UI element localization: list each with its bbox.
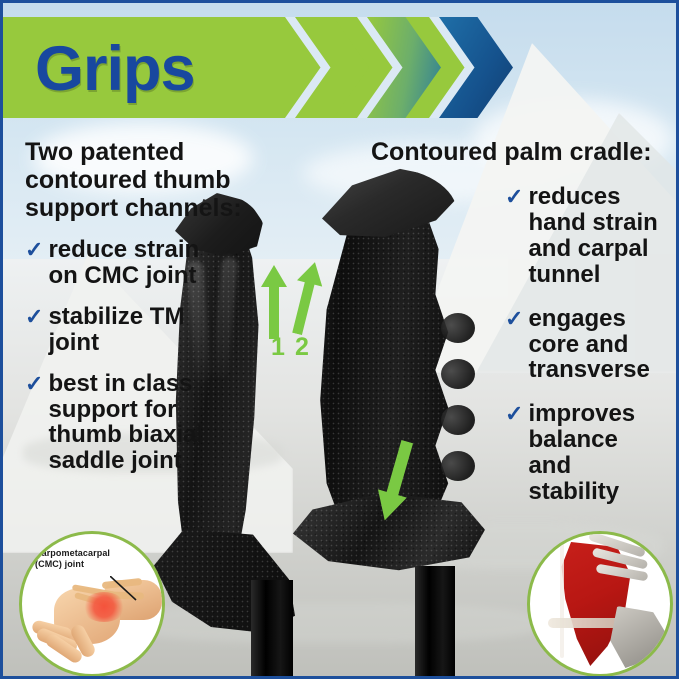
left-text-column: Two patented contoured thumb support cha… bbox=[25, 138, 257, 474]
left-bullet-2: stabilize TM joint bbox=[48, 304, 184, 356]
cmc-joint-inset: Carpometacarpal (CMC) joint bbox=[19, 531, 165, 677]
right-bullet-3: improves balance and stability bbox=[528, 401, 661, 505]
trekking-pole-right bbox=[415, 566, 455, 676]
check-icon: ✓ bbox=[505, 402, 523, 426]
hand-anatomy-illustration bbox=[26, 574, 160, 670]
check-icon: ✓ bbox=[25, 305, 43, 329]
list-item: ✓ best in class support for thumb biaxia… bbox=[25, 371, 257, 475]
list-item: ✓ stabilize TM joint bbox=[25, 304, 257, 356]
right-bullet-1: reduces hand strain and carpal tunnel bbox=[528, 184, 657, 288]
trekking-pole-left bbox=[251, 580, 293, 676]
left-column-heading: Two patented contoured thumb support cha… bbox=[25, 138, 257, 222]
cmc-leader-line bbox=[110, 576, 138, 602]
left-bullet-3: best in class support for thumb biaxial … bbox=[48, 371, 203, 475]
right-column-heading: Contoured palm cradle: bbox=[371, 138, 661, 166]
right-text-column: Contoured palm cradle: ✓ reduces hand st… bbox=[371, 138, 661, 505]
list-item: ✓ reduces hand strain and carpal tunnel bbox=[505, 184, 661, 288]
cmc-joint-label: Carpometacarpal (CMC) joint bbox=[35, 548, 147, 571]
right-bullet-list: ✓ reduces hand strain and carpal tunnel … bbox=[505, 184, 661, 505]
left-bullet-list: ✓ reduce strain on CMC joint ✓ stabilize… bbox=[25, 237, 257, 474]
check-icon: ✓ bbox=[25, 372, 43, 396]
right-bullet-2: engages core and transverse bbox=[528, 306, 649, 384]
list-item: ✓ engages core and transverse bbox=[505, 306, 661, 384]
thumb-channel-label-1: 1 bbox=[271, 333, 285, 362]
list-item: ✓ improves balance and stability bbox=[505, 401, 661, 505]
thumb-channel-arrow-1-icon bbox=[261, 265, 287, 339]
check-icon: ✓ bbox=[505, 185, 523, 209]
check-icon: ✓ bbox=[25, 238, 43, 262]
left-bullet-1: reduce strain on CMC joint bbox=[48, 237, 199, 289]
core-muscle-inset bbox=[527, 531, 673, 677]
tendinous-band bbox=[548, 618, 620, 628]
grips-infographic: Grips 1 2 Two bbox=[0, 0, 679, 679]
thumb-channel-label-2: 2 bbox=[295, 333, 309, 362]
list-item: ✓ reduce strain on CMC joint bbox=[25, 237, 257, 289]
check-icon: ✓ bbox=[505, 307, 523, 331]
page-title: Grips bbox=[35, 23, 195, 115]
linea-alba bbox=[560, 540, 564, 658]
